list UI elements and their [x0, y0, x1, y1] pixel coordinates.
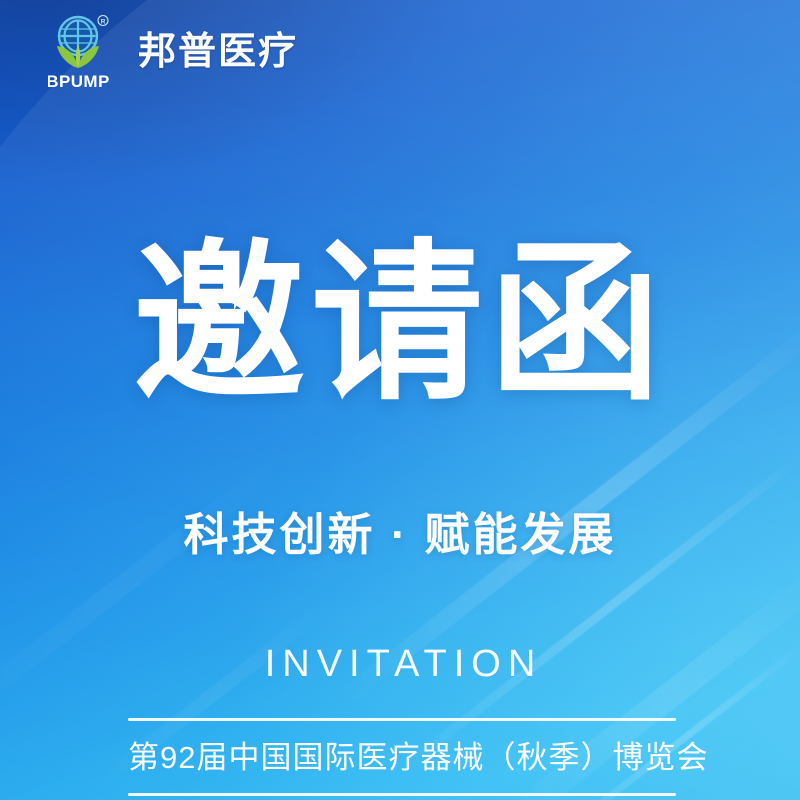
event-name: 第92届中国国际医疗器械（秋季）博览会 [128, 721, 676, 793]
page-title: 邀请函 [0, 238, 800, 410]
brand-name: 邦普医疗 [138, 33, 298, 71]
svg-text:BPUMP: BPUMP [48, 72, 110, 90]
subtitle: 科技创新 · 赋能发展 [0, 508, 800, 562]
footer-block: 第92届中国国际医疗器械（秋季）博览会 [128, 718, 676, 796]
header-bar: R BPUMP 邦普医疗 [0, 0, 800, 104]
bpump-logo[interactable]: R BPUMP [48, 14, 112, 90]
brand-lockup[interactable]: R BPUMP 邦普医疗 [48, 14, 298, 90]
english-title: INVITATION [0, 645, 800, 683]
svg-text:R: R [101, 19, 106, 26]
divider-bottom [128, 793, 676, 796]
center-content: 邀请函 科技创新 · 赋能发展 INVITATION [0, 0, 800, 800]
invitation-poster: R BPUMP 邦普医疗 邀请函 科技创新 · 赋能发展 INVITATION … [0, 0, 800, 800]
